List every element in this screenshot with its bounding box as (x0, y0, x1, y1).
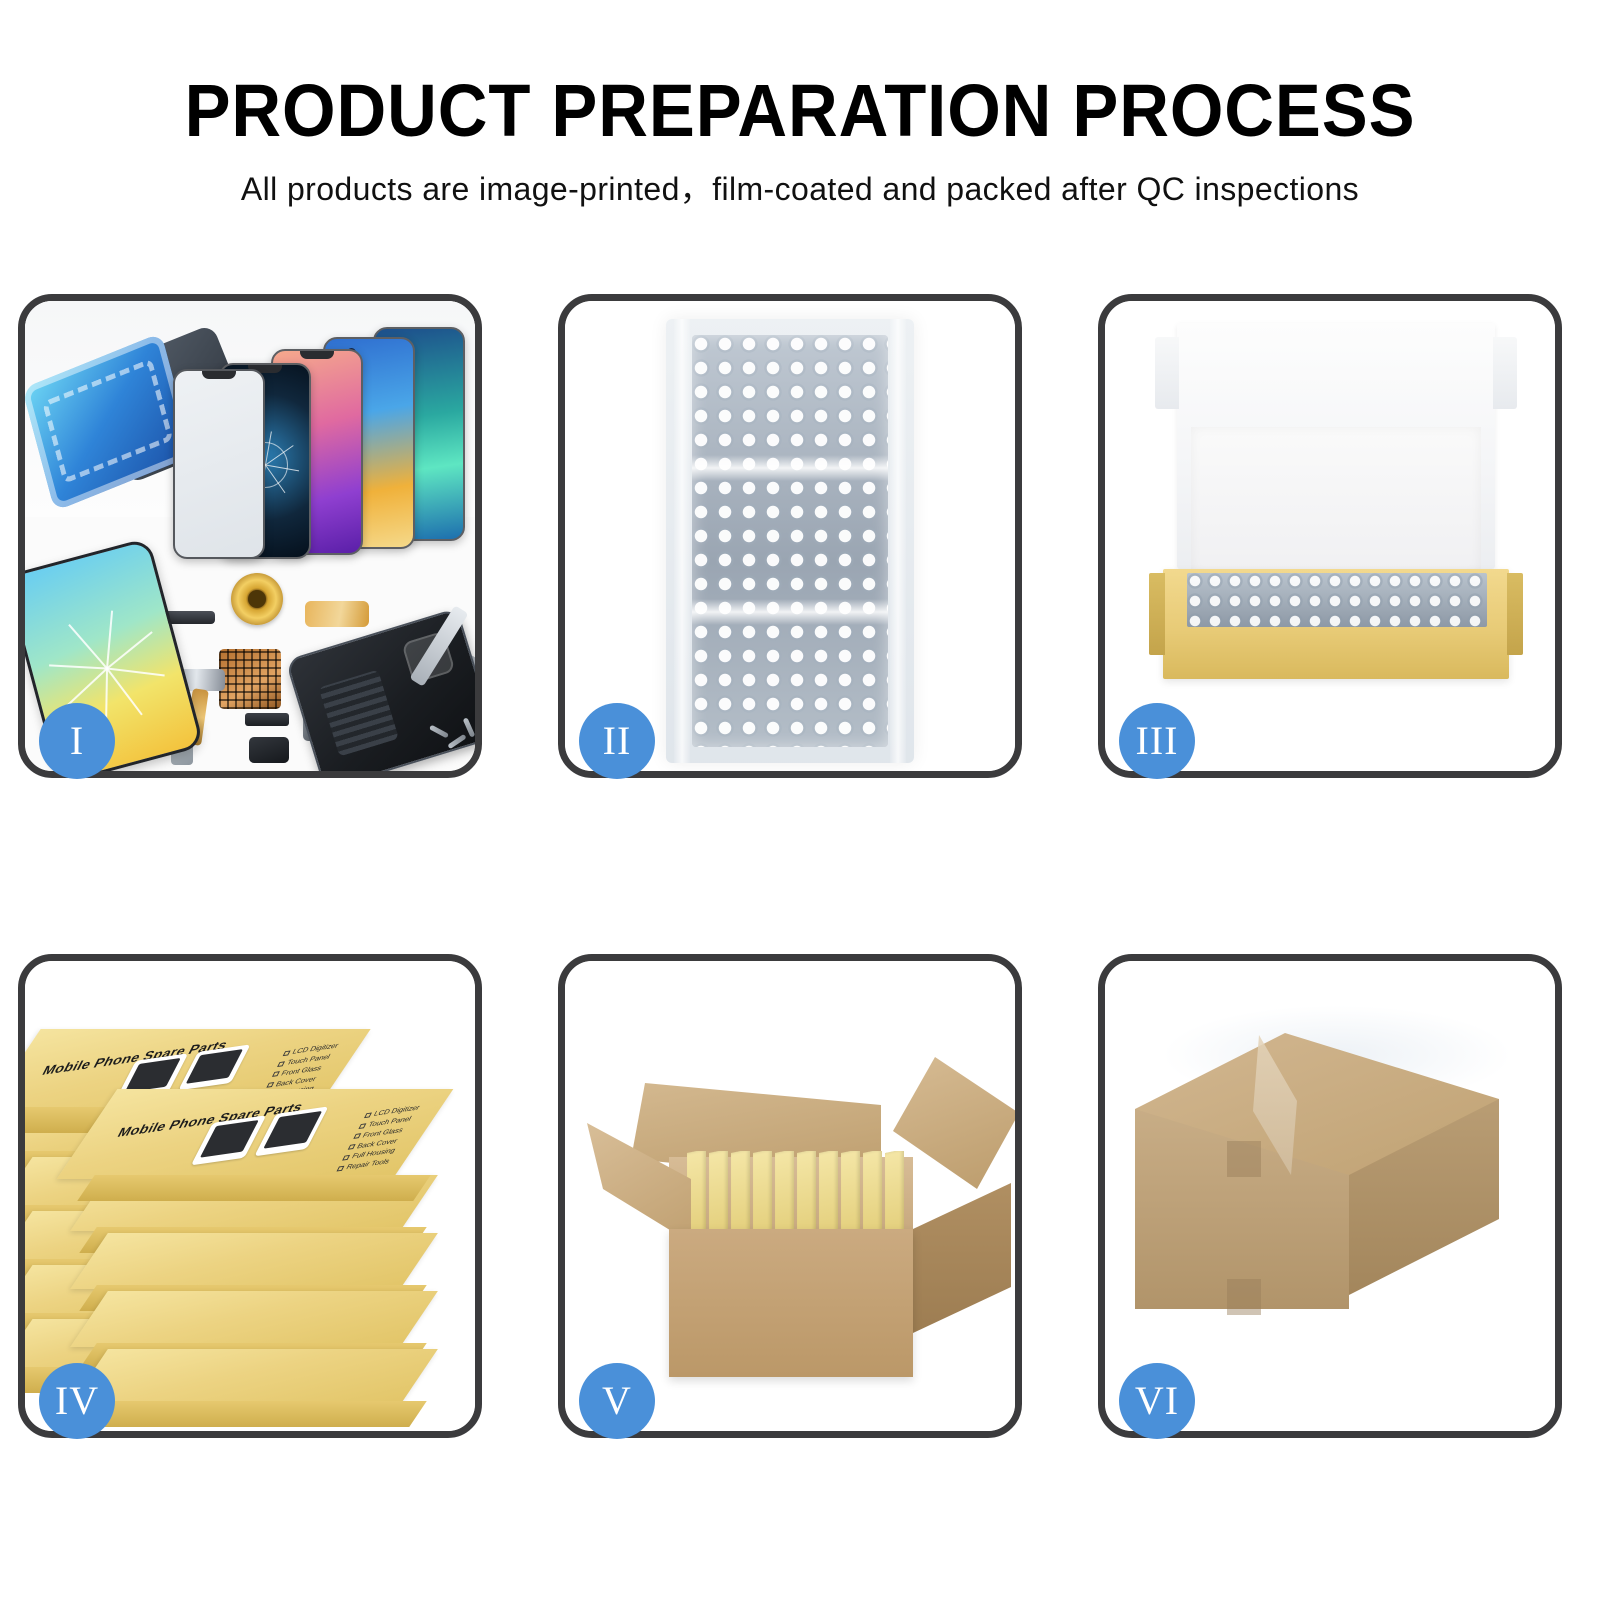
carton-tab-upper (1227, 1141, 1261, 1177)
process-step-grid: I II (18, 294, 1582, 1438)
screen-protector-glass (173, 369, 265, 559)
step-1-image (25, 301, 475, 771)
step-3-image (1105, 301, 1555, 771)
retail-box-stack-r4 (89, 1349, 419, 1405)
carton-side-panel (913, 1183, 1011, 1333)
carton-front-panel (669, 1229, 913, 1377)
button-module-icon (245, 713, 289, 726)
sheen-highlight-2 (692, 599, 888, 625)
phone-fan-group (173, 327, 473, 577)
mailer-foam-liner (1191, 427, 1481, 575)
step-4-image: Mobile Phone Spare Parts LCD Digitizer T… (25, 961, 475, 1431)
carton-tab-lower (1227, 1279, 1261, 1315)
chip-grid-icon (219, 649, 281, 709)
retail-box-checklist-front: LCD Digitizer Touch Panel Front Glass Ba… (334, 1104, 421, 1176)
wireless-charging-coil-icon (231, 573, 283, 625)
page-subtitle: All products are image-printed，film-coat… (0, 170, 1600, 208)
step-badge-5: V (579, 1363, 655, 1439)
flex-cable-gold-icon (305, 601, 369, 627)
process-step-4: Mobile Phone Spare Parts LCD Digitizer T… (18, 954, 482, 1438)
retail-box-stack-r3 (89, 1291, 419, 1347)
process-step-1: I (18, 294, 482, 778)
stacked-boxes-scene: Mobile Phone Spare Parts LCD Digitizer T… (25, 961, 475, 1431)
screws-group (429, 725, 475, 753)
page-header: PRODUCT PREPARATION PROCESS All products… (0, 0, 1600, 208)
open-carton-scene (565, 961, 1015, 1431)
sleeve-seam-right (890, 319, 906, 763)
sealed-carton-scene (1105, 961, 1555, 1431)
sleeve-seam-left (674, 319, 690, 763)
step-5-image (565, 961, 1015, 1431)
step-2-image (565, 301, 1015, 771)
step-badge-6: VI (1119, 1363, 1195, 1439)
mailer-box-scene (1105, 301, 1555, 771)
bubble-pattern (692, 335, 888, 747)
process-step-6: VI (1098, 954, 1562, 1438)
retail-box-stack-r2 (89, 1233, 419, 1289)
process-step-2: II (558, 294, 1022, 778)
page-title: PRODUCT PREPARATION PROCESS (56, 74, 1544, 148)
phone-parts-scene (25, 301, 475, 771)
step-badge-1: I (39, 703, 115, 779)
step-badge-4: IV (39, 1363, 115, 1439)
process-step-3: III (1098, 294, 1562, 778)
bubble-wrap-sleeve (666, 319, 914, 763)
taptic-engine-icon (249, 737, 289, 763)
bubble-wrapped-insert (1187, 573, 1487, 627)
process-step-5: V (558, 954, 1022, 1438)
step-badge-2: II (579, 703, 655, 779)
step-6-image (1105, 961, 1555, 1431)
sheen-highlight-1 (692, 455, 888, 481)
step-badge-3: III (1119, 703, 1195, 779)
bubble-wrap-scene (565, 301, 1015, 771)
retail-box-printed-front: Mobile Phone Spare Parts LCD Digitizer T… (87, 1089, 423, 1179)
